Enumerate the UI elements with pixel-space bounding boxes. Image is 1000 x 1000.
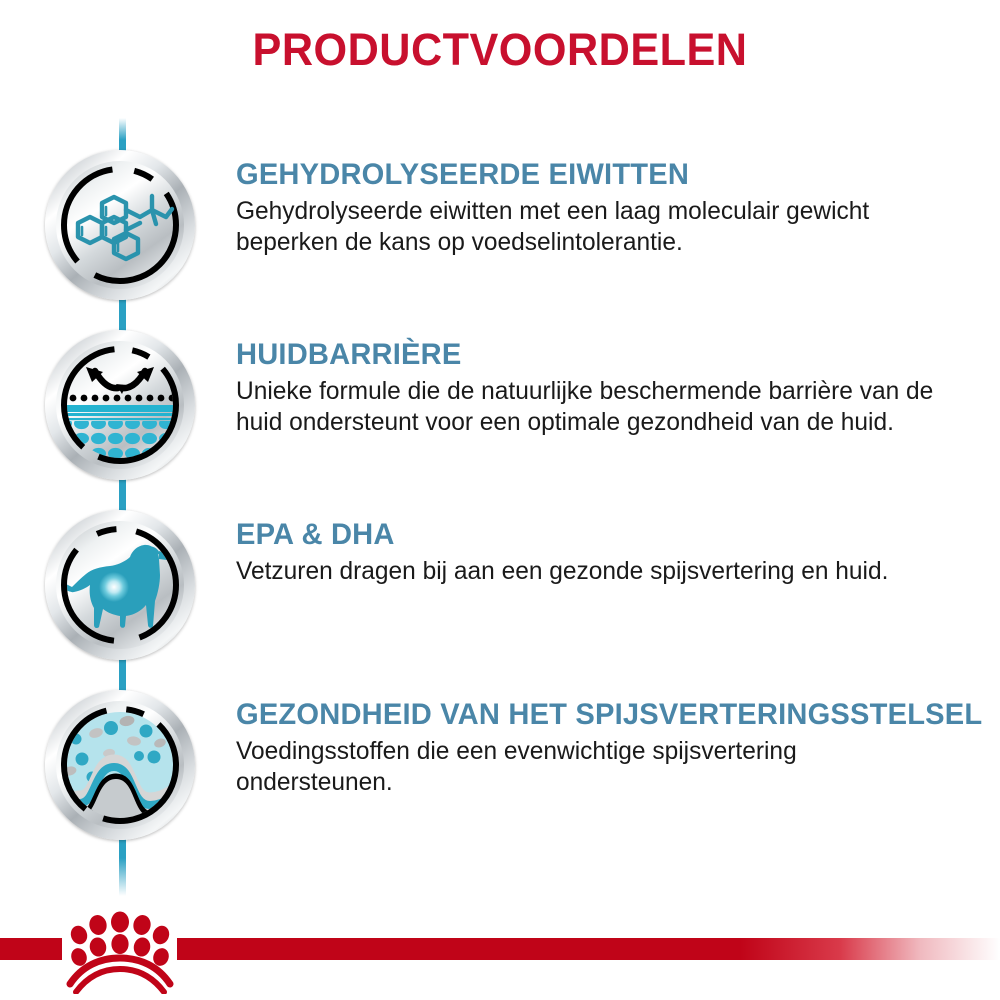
- product-benefits-page: PRODUCTVOORDELEN: [0, 0, 1000, 1000]
- benefit-body: Unieke formule die de natuurlijke besche…: [236, 376, 951, 438]
- benefit-heading: EPA & DHA: [236, 518, 958, 552]
- benefit-row: HUIDBARRIÈRE Unieke formule die de natuu…: [0, 330, 1000, 480]
- benefit-text: GEZONDHEID VAN HET SPIJSVERTERINGSSTELSE…: [195, 690, 1000, 798]
- benefit-row: GEZONDHEID VAN HET SPIJSVERTERINGSSTELSE…: [0, 690, 1000, 840]
- digestive-health-icon: [56, 701, 184, 829]
- royal-canin-crown-logo: [60, 908, 180, 994]
- page-title: PRODUCTVOORDELEN: [20, 24, 980, 76]
- icon-badge: [45, 330, 195, 480]
- dog-silhouette-icon: [56, 521, 184, 649]
- benefit-heading: GEZONDHEID VAN HET SPIJSVERTERINGSSTELSE…: [236, 698, 982, 732]
- benefit-heading: GEHYDROLYSEERDE EIWITTEN: [236, 158, 958, 192]
- skin-barrier-icon: [56, 341, 184, 469]
- benefit-body: Vetzuren dragen bij aan een gezonde spij…: [236, 556, 951, 587]
- benefit-text: HUIDBARRIÈRE Unieke formule die de natuu…: [195, 330, 1000, 438]
- benefit-text: EPA & DHA Vetzuren dragen bij aan een ge…: [195, 510, 1000, 587]
- benefit-body: Voedingsstoffen die een evenwichtige spi…: [236, 736, 951, 798]
- benefit-text: GEHYDROLYSEERDE EIWITTEN Gehydrolyseerde…: [195, 150, 1000, 258]
- benefit-row: EPA & DHA Vetzuren dragen bij aan een ge…: [0, 510, 1000, 660]
- benefit-heading: HUIDBARRIÈRE: [236, 338, 958, 372]
- icon-badge: [45, 510, 195, 660]
- icon-badge: [45, 150, 195, 300]
- benefit-body: Gehydrolyseerde eiwitten met een laag mo…: [236, 196, 951, 258]
- molecule-icon: [56, 161, 184, 289]
- benefit-row: GEHYDROLYSEERDE EIWITTEN Gehydrolyseerde…: [0, 150, 1000, 300]
- icon-badge: [45, 690, 195, 840]
